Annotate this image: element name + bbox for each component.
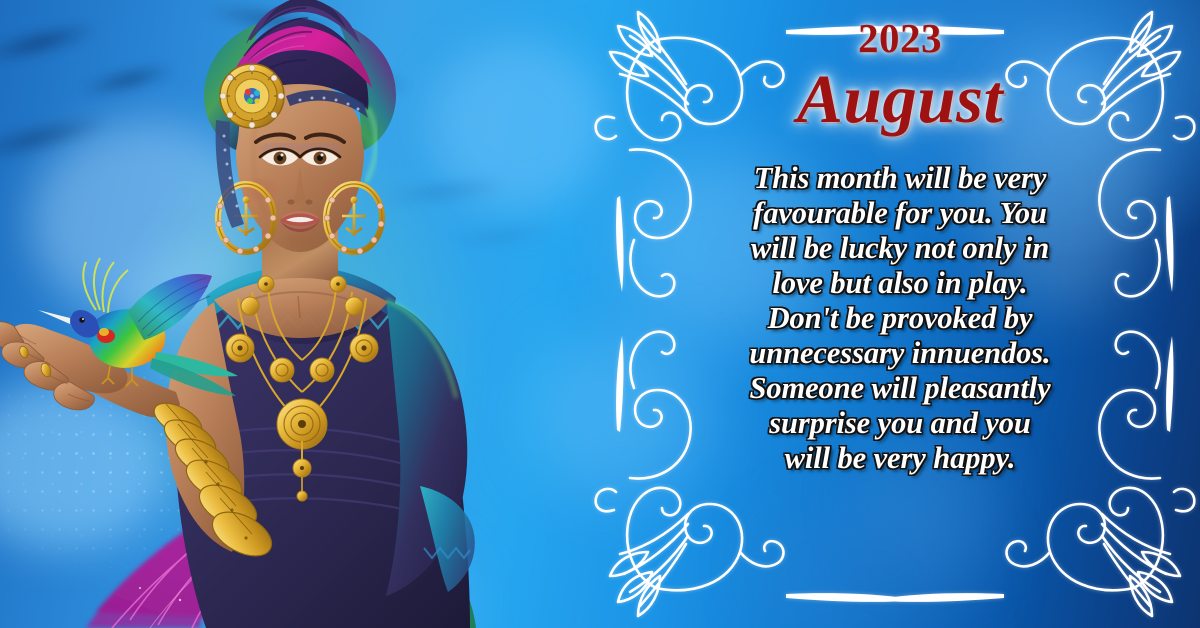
- horoscope-message: This month will be veryfavourable for yo…: [690, 161, 1110, 476]
- message-line: unnecessary innuendos.: [749, 336, 1050, 370]
- year-label: 2023: [858, 14, 942, 62]
- month-title: August: [797, 60, 1003, 139]
- message-line: Someone will pleasantly: [749, 371, 1050, 405]
- message-line: love but also in play.: [772, 266, 1027, 300]
- message-line: will be very happy.: [785, 441, 1016, 475]
- message-line: This month will be very: [754, 161, 1047, 195]
- fortune-teller-portrait: [0, 0, 600, 628]
- turban-brooch: [220, 64, 284, 128]
- text-panel: 2023 August This month will be veryfavou…: [620, 0, 1180, 628]
- message-line: will be lucky not only in: [751, 231, 1049, 265]
- message-line: favourable for you. You: [753, 196, 1047, 230]
- horoscope-banner: 2023 August This month will be veryfavou…: [0, 0, 1200, 628]
- message-line: Don't be provoked by: [768, 301, 1033, 335]
- message-line: surprise you and you: [769, 406, 1031, 440]
